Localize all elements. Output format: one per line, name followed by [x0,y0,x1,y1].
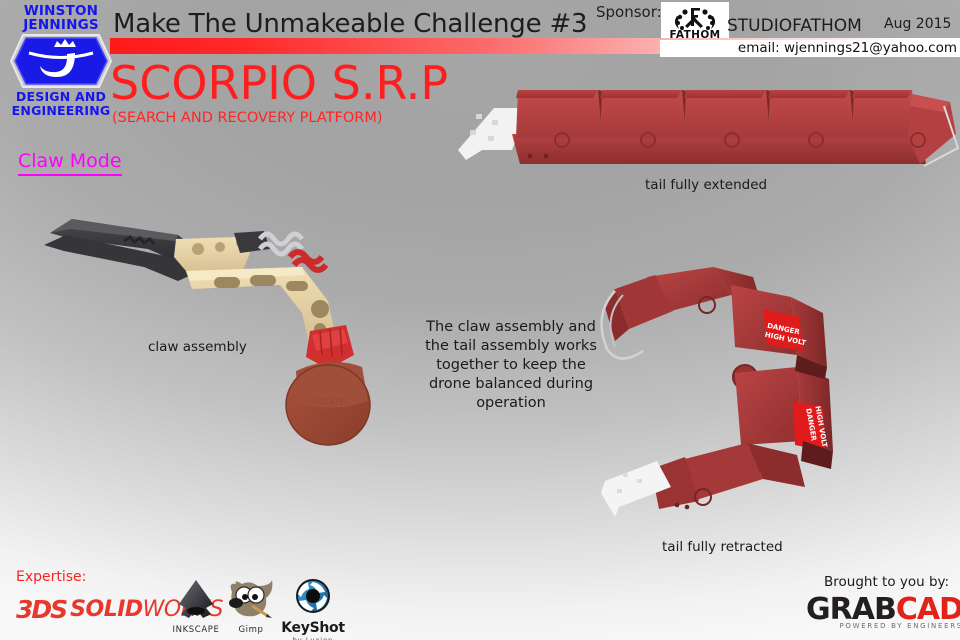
brand-name-line4: ENGINEERING [6,104,116,118]
render-tail-extended [450,78,960,182]
product-subtitle: (SEARCH AND RECOVERY PLATFORM) [112,110,383,126]
poster-canvas: WINSTON JENNINGS DESIGN AND ENGINEERING … [0,0,960,640]
keyshot-sublabel: by Luxion [280,636,346,640]
sponsor-name: STUDIOFATHOM [727,16,862,36]
solidworks-name-bold: SOLID [70,597,143,622]
fathom-logo-icon: FATHOM [661,2,729,40]
inkscape-label: INKSCAPE [168,625,224,635]
gimp-wilber-icon: Gimp [222,578,280,635]
caption-claw-assembly: claw assembly [148,339,247,355]
gimp-label: Gimp [222,625,280,635]
sponsor-label: Sponsor: [596,3,662,21]
brand-name-line3: DESIGN AND [6,90,116,104]
center-description: The claw assembly and the tail assembly … [418,318,604,413]
date-label: Aug 2015 [884,16,951,32]
svg-text:SHAFT: SHAFT [313,410,343,420]
expertise-label: Expertise: [16,569,86,585]
inkscape-logo-icon: INKSCAPE [168,578,224,635]
brand-name-line1: WINSTON [6,4,116,18]
keyshot-label: KeyShot [280,620,346,636]
solidworks-3ds-mark: 3DS [16,595,66,624]
contact-email: email: wjennings21@yahoo.com [660,40,960,57]
caption-tail-extended: tail fully extended [645,177,767,193]
svg-text:ROTATE: ROTATE [311,398,346,408]
keyshot-aperture-icon: KeyShot by Luxion [280,578,346,640]
grabcad-logo-icon: GRABCAD POWERED BY ENGINEERS [806,592,960,630]
brought-to-you-by-label: Brought to you by: [824,574,949,590]
brand-name-line2: JENNINGS [6,18,116,32]
product-title: SCORPIO S.R.P [110,56,448,110]
caption-tail-retracted: tail fully retracted [662,539,783,555]
winston-jennings-badge-icon [9,33,113,89]
brand-logo-block: WINSTON JENNINGS DESIGN AND ENGINEERING [6,4,116,117]
mode-label: Claw Mode [18,150,122,176]
render-tail-retracted: DANGER HIGH VOLT DANGER HIGH VOLT [585,255,855,529]
page-title: Make The Unmakeable Challenge #3 [113,9,587,39]
